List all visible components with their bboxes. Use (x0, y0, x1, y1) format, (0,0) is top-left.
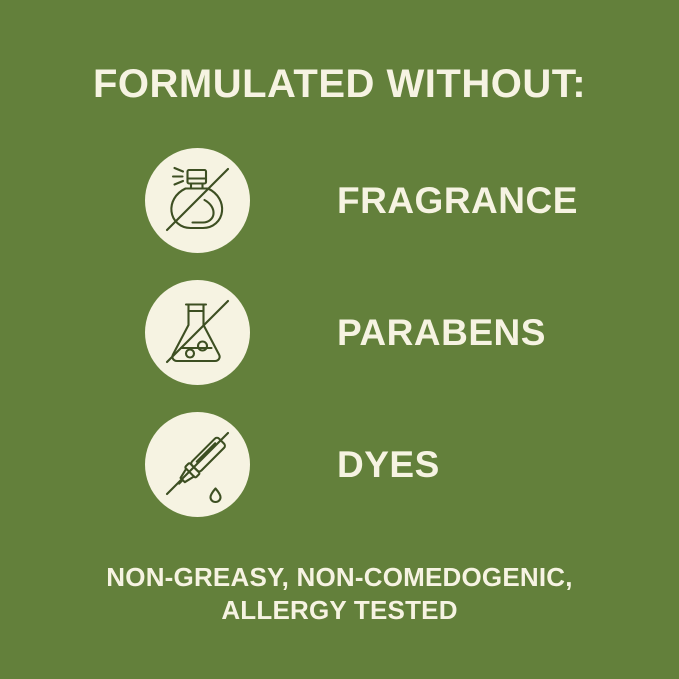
footer-line-1: NON-GREASY, NON-COMEDOGENIC, (0, 561, 679, 594)
no-dropper-icon (145, 412, 250, 517)
claim-row: FRAGRANCE (0, 148, 679, 280)
claim-label: FRAGRANCE (337, 148, 578, 253)
claim-label: PARABENS (337, 280, 546, 385)
claim-row: DYES (0, 412, 679, 544)
claims-list: FRAGRANCE (0, 148, 679, 544)
footer-line-2: ALLERGY TESTED (0, 594, 679, 627)
claim-row: PARABENS (0, 280, 679, 412)
page-title: FORMULATED WITHOUT: (0, 62, 679, 107)
formulated-without-infographic: FORMULATED WITHOUT: (0, 0, 679, 679)
claim-label: DYES (337, 412, 440, 517)
no-fragrance-bottle-icon (145, 148, 250, 253)
no-flask-icon (145, 280, 250, 385)
footer-claims: NON-GREASY, NON-COMEDOGENIC, ALLERGY TES… (0, 561, 679, 627)
